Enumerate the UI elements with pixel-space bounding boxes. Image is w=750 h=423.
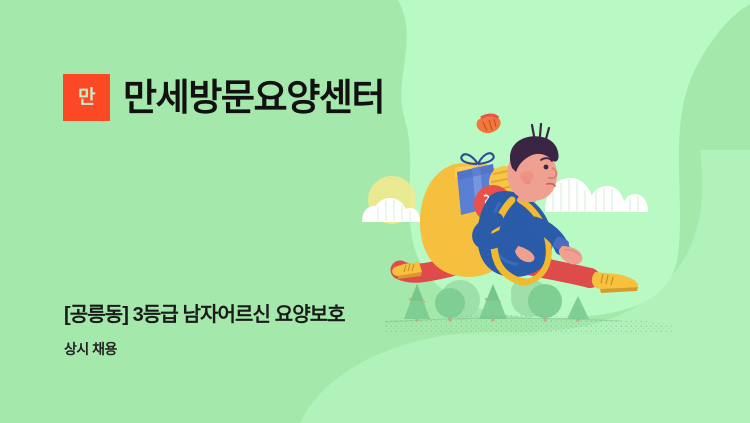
job-headline: [공릉동] 3등급 남자어르신 요양보호 (64, 304, 345, 327)
job-posting-card: 만 만세방문요양센터 [공릉동] 3등급 남자어르신 요양보호 상시 채용 (0, 0, 750, 423)
company-logo-badge: 만 (63, 74, 110, 121)
job-subline: 상시 채용 (64, 341, 117, 357)
logo-badge-text: 만 (78, 88, 95, 107)
brand-row: 만 만세방문요양센터 (63, 74, 384, 121)
illustration-running-delivery-person (0, 0, 750, 423)
company-name: 만세방문요양센터 (123, 79, 384, 116)
